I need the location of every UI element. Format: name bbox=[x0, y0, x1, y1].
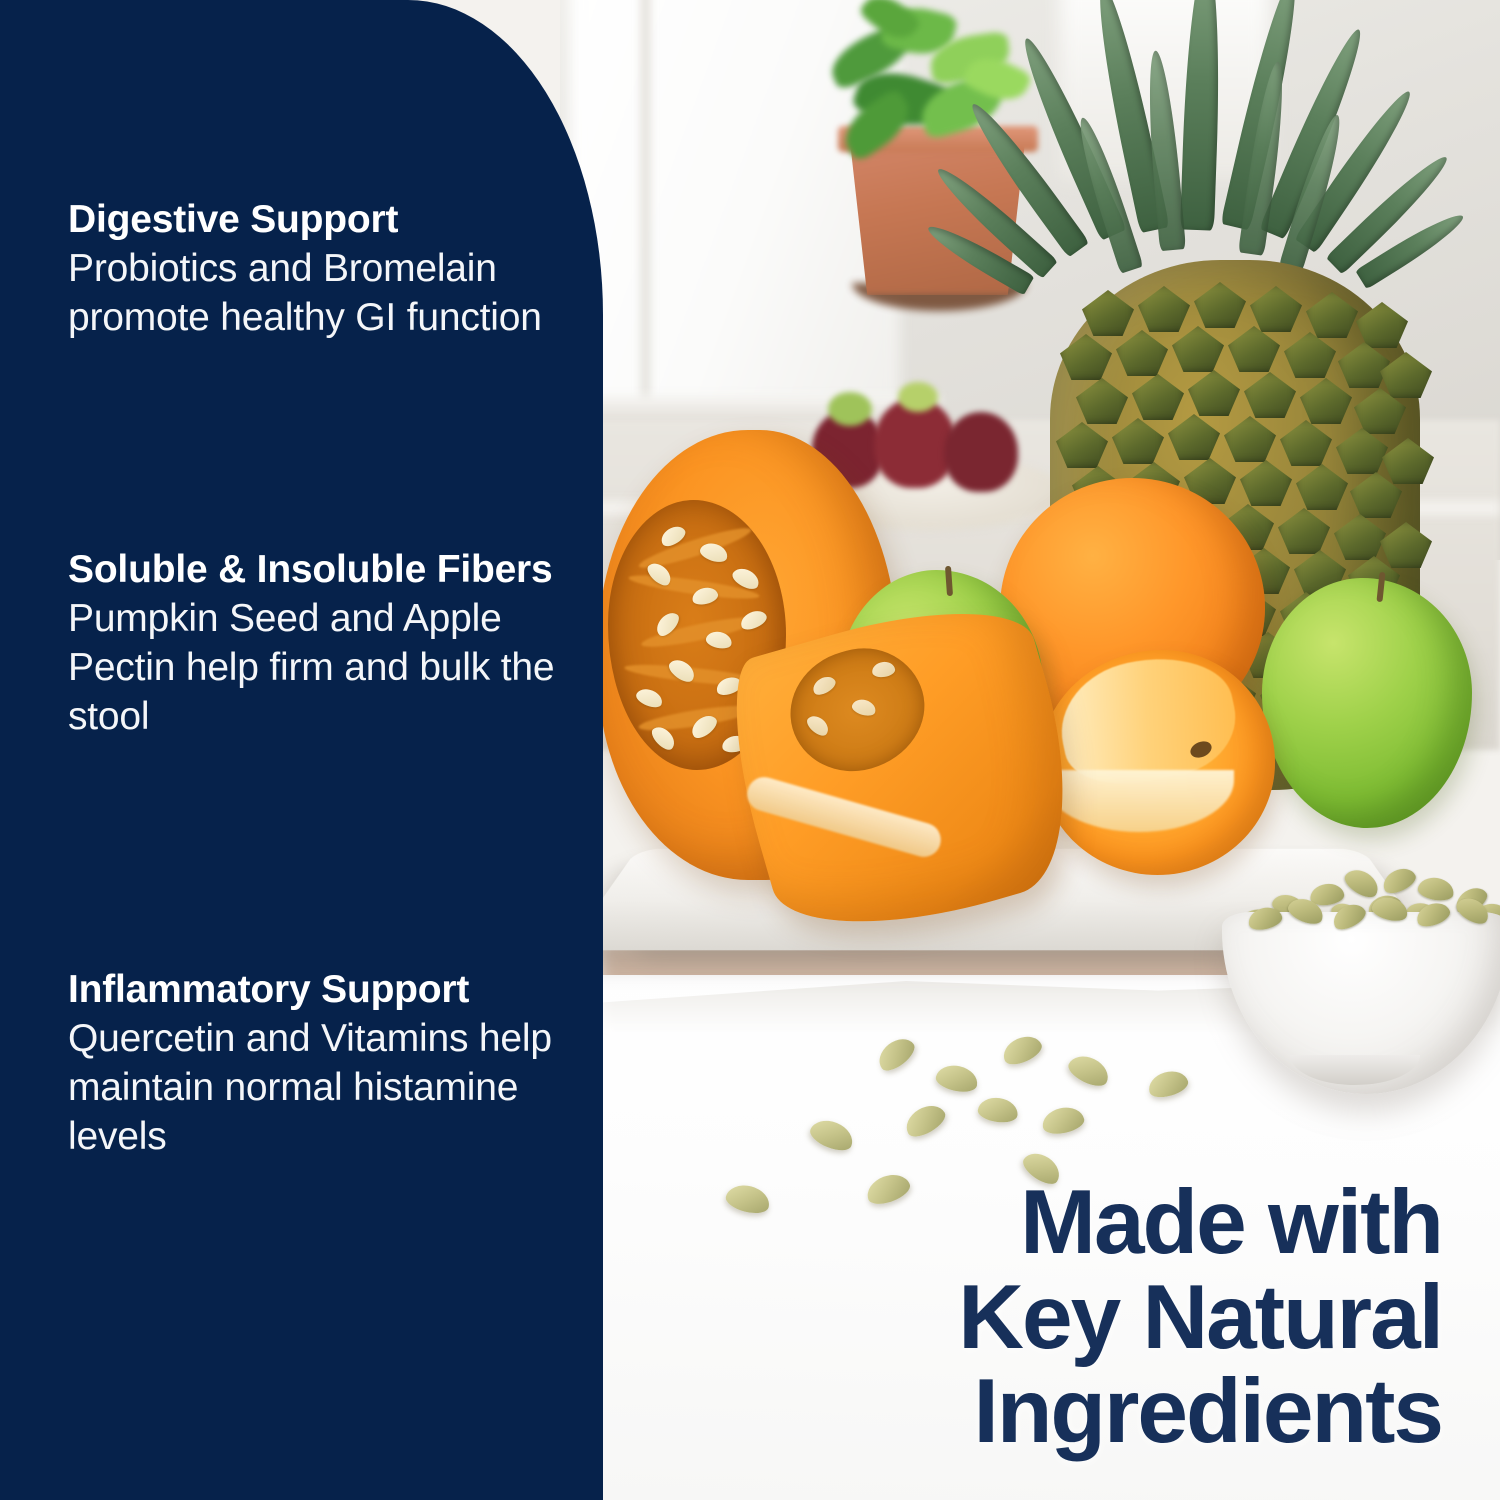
benefit-block-soluble-insoluble-fibers: Soluble & Insoluble Fibers Pumpkin Seed … bbox=[68, 548, 578, 741]
benefit-body: Probiotics and Bromelain promote healthy… bbox=[68, 244, 578, 342]
benefit-body: Pumpkin Seed and Apple Pectin help firm … bbox=[68, 594, 578, 741]
product-benefits-infographic: Digestive Support Probiotics and Bromela… bbox=[0, 0, 1500, 1500]
benefit-block-digestive-support: Digestive Support Probiotics and Bromela… bbox=[68, 198, 578, 342]
headline-line-1: Made with bbox=[682, 1176, 1442, 1271]
benefits-list: Digestive Support Probiotics and Bromela… bbox=[68, 0, 578, 1500]
benefit-body: Quercetin and Vitamins help maintain nor… bbox=[68, 1014, 578, 1161]
headline-line-2: Key Natural bbox=[682, 1271, 1442, 1366]
window-mullion bbox=[640, 0, 651, 410]
benefit-heading: Inflammatory Support bbox=[68, 968, 578, 1012]
headline: Made with Key Natural Ingredients bbox=[682, 1176, 1442, 1460]
benefit-heading: Digestive Support bbox=[68, 198, 578, 242]
benefit-heading: Soluble & Insoluble Fibers bbox=[68, 548, 578, 592]
headline-line-3: Ingredients bbox=[682, 1365, 1442, 1460]
benefit-block-inflammatory-support: Inflammatory Support Quercetin and Vitam… bbox=[68, 968, 578, 1161]
benefits-panel: Digestive Support Probiotics and Bromela… bbox=[0, 0, 603, 1500]
